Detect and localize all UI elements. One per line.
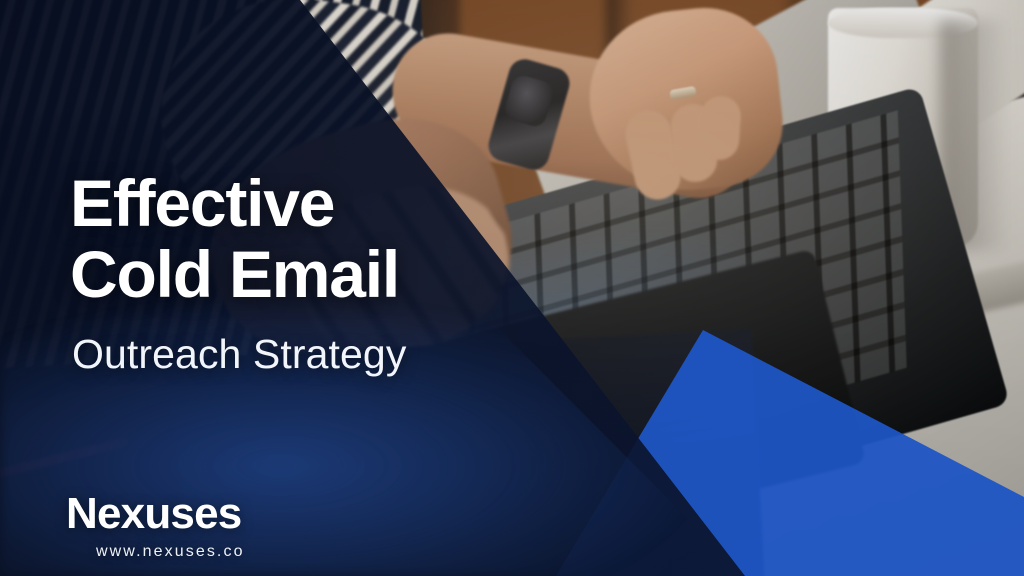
subheadline: Outreach Strategy <box>72 331 406 378</box>
brand-website: www.nexuses.co <box>96 543 245 561</box>
brand-logo[interactable]: Nexuses www.nexuses.co <box>66 492 245 561</box>
brand-name: Nexuses <box>66 492 245 536</box>
promo-banner: Effective Cold Email Outreach Strategy N… <box>0 0 1024 576</box>
headline: Effective Cold Email <box>70 168 399 309</box>
